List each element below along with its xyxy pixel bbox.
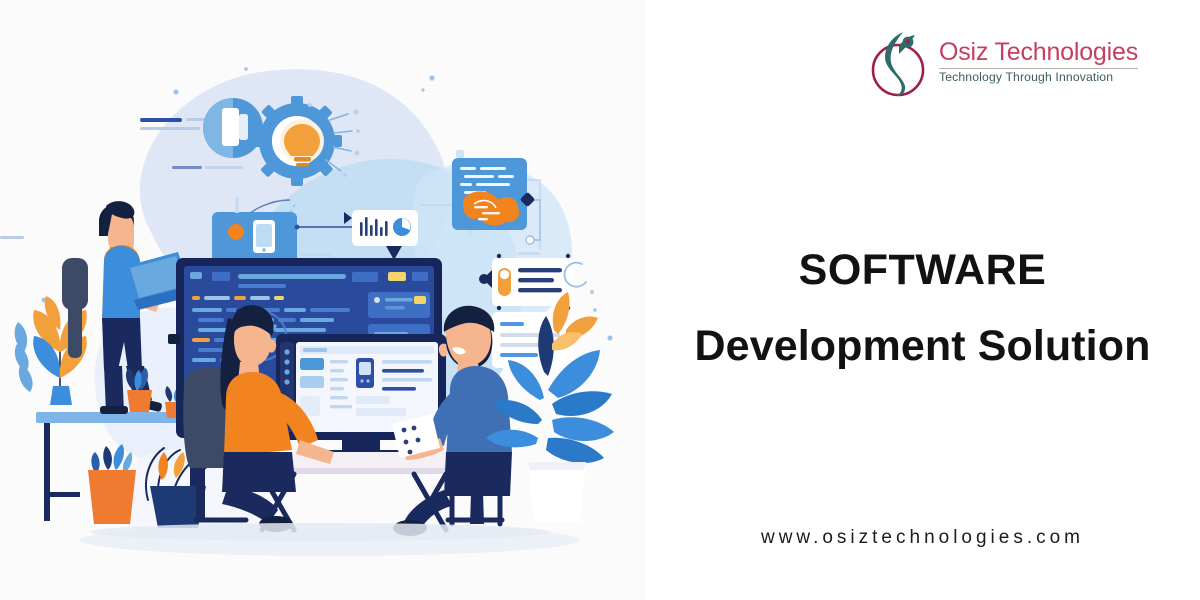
headline-line-2: Development Solution	[669, 320, 1176, 374]
brand-logo[interactable]: Osiz Technologies Technology Through Inn…	[869, 26, 1138, 98]
osiz-logo-icon	[869, 26, 931, 98]
headline-block: SOFTWARE Development Solution	[645, 244, 1200, 374]
illustration-panel	[0, 0, 645, 600]
brand-tagline: Technology Through Innovation	[939, 71, 1113, 84]
brand-divider	[939, 68, 1138, 69]
mobile-app-circle-icon	[203, 98, 263, 158]
text-panel: Osiz Technologies Technology Through Inn…	[645, 0, 1200, 600]
website-url[interactable]: www.osiztechnologies.com	[645, 527, 1200, 549]
banner-root: Osiz Technologies Technology Through Inn…	[0, 0, 1200, 600]
software-development-team-illustration	[0, 0, 645, 600]
headline-line-1: SOFTWARE	[669, 244, 1176, 298]
brand-name: Osiz Technologies	[939, 39, 1138, 65]
code-snippet-card	[452, 150, 527, 230]
